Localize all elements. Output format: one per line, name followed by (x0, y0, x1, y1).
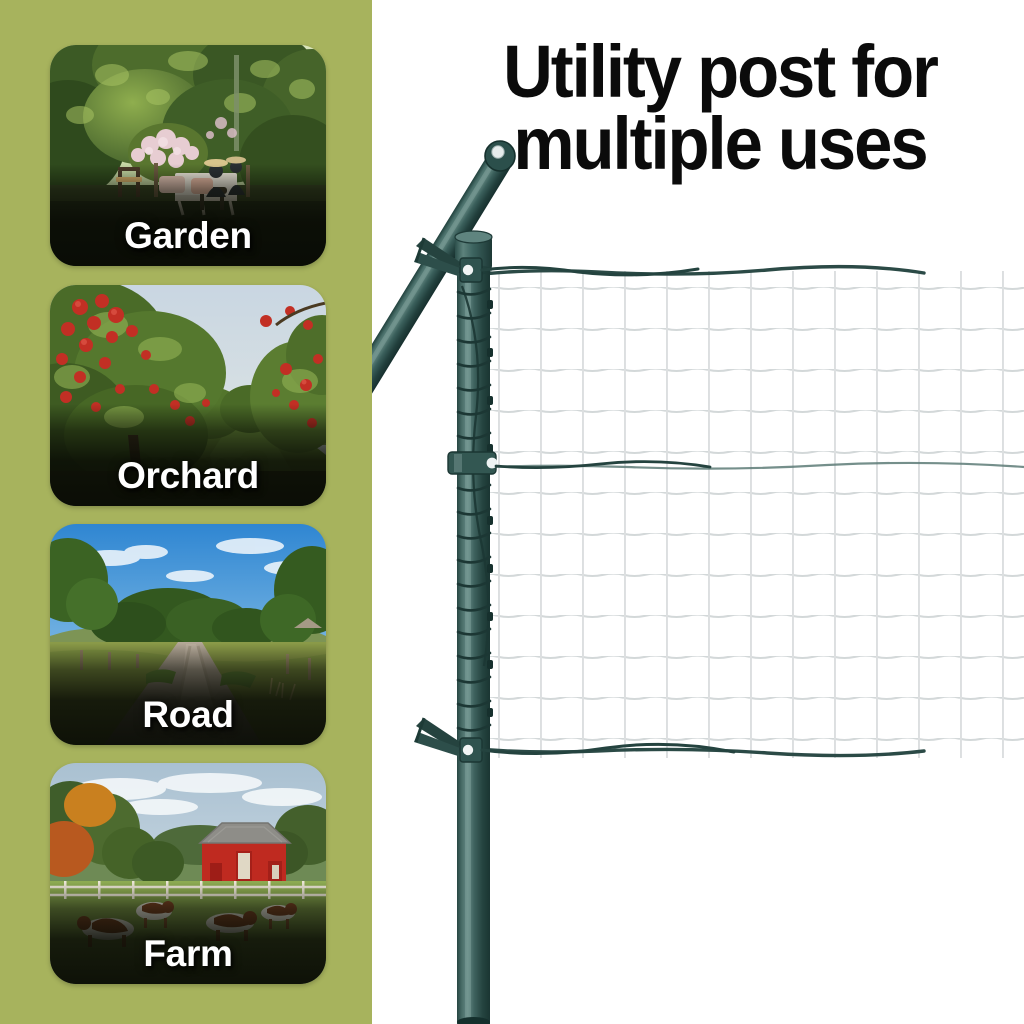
use-case-label-farm: Farm (50, 933, 326, 975)
welded-wire-mesh-fence (467, 267, 1024, 758)
use-case-label-garden: Garden (50, 215, 326, 257)
use-case-card-orchard[interactable]: Orchard (50, 285, 326, 506)
use-case-label-road: Road (50, 694, 326, 736)
use-case-card-road[interactable]: Road (50, 524, 326, 745)
use-case-label-orchard: Orchard (50, 455, 326, 497)
use-case-sidebar: Garden (0, 0, 372, 1024)
product-infographic: Garden (0, 0, 1024, 1024)
use-case-card-farm[interactable]: Farm (50, 763, 326, 984)
product-illustration (372, 0, 1024, 1024)
vertical-utility-post (455, 231, 493, 1024)
use-case-card-garden[interactable]: Garden (50, 45, 326, 266)
